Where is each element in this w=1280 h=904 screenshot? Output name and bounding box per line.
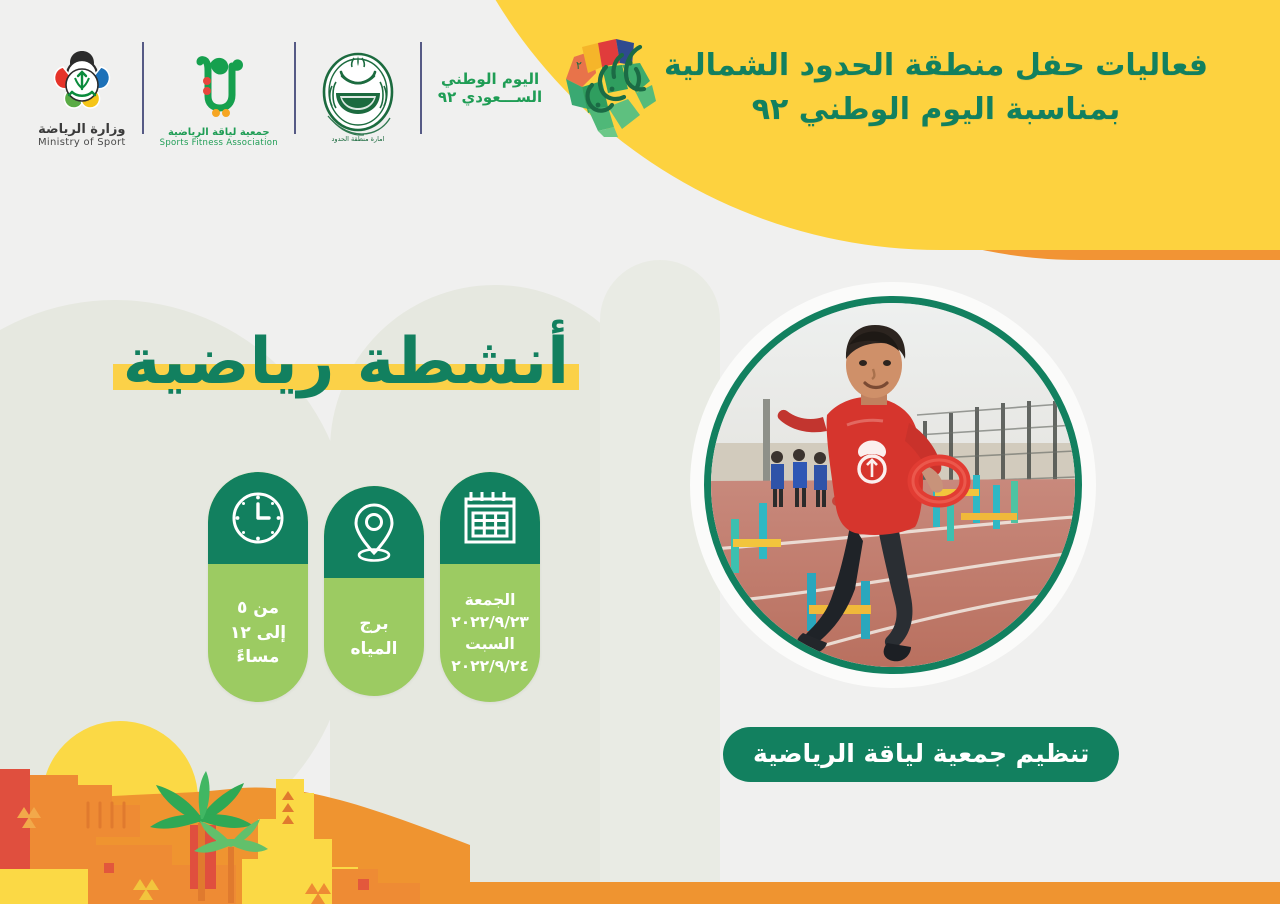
date-value-1: ٢٠٢٢/٩/٢٣: [451, 611, 529, 633]
sports-fitness-association-caption-ar: جمعية لياقة الرياضية: [168, 127, 270, 138]
date-day-1: الجمعة: [465, 589, 516, 611]
pill-body-time: من ٥ إلى ١٢ مساءً: [208, 564, 308, 702]
calendar-icon: [460, 486, 520, 550]
ministry-of-sport-icon: [45, 45, 119, 119]
location-pin-icon: [345, 499, 403, 565]
poster-canvas: وزارة الرياضة Ministry of Sport جمعية لي…: [0, 0, 1280, 904]
info-pills: من ٥ إلى ١٢ مساءً برج المياه: [208, 472, 540, 702]
clock-icon: [227, 487, 289, 549]
info-pill-dates[interactable]: الجمعة ٢٠٢٢/٩/٢٣ السبت ٢٠٢٢/٩/٢٤: [440, 472, 540, 702]
pill-head-time: [208, 472, 308, 564]
logo-sports-fitness-association: جمعية لياقة الرياضية Sports Fitness Asso…: [144, 28, 294, 148]
ministry-of-sport-caption-en: Ministry of Sport: [38, 137, 126, 148]
national-day-caption-ar-line2: الســـعودي ٩٢: [438, 88, 542, 106]
date-value-2: ٢٠٢٢/٩/٢٤: [451, 655, 529, 677]
main-title-wrap: أنشطة رياضية: [117, 330, 575, 394]
northern-borders-emirate-icon: امارة منطقة الحدود: [312, 48, 404, 148]
page-title-text: أنشطة رياضية: [123, 325, 569, 399]
event-photo: [704, 296, 1082, 674]
time-line-1: من ٥: [237, 596, 279, 621]
logo-bar: وزارة الرياضة Ministry of Sport جمعية لي…: [0, 28, 688, 148]
organizer-badge: تنظيم جمعية لياقة الرياضية: [723, 727, 1119, 782]
bg-blob-right: [600, 260, 720, 904]
header-title: فعاليات حفل منطقة الحدود الشمالية بمناسب…: [626, 44, 1246, 131]
location-line-1: برج: [359, 612, 388, 637]
info-pill-time[interactable]: من ٥ إلى ١٢ مساءً: [208, 472, 308, 702]
date-day-2: السبت: [465, 633, 515, 655]
village-illustration: [0, 719, 470, 904]
header-title-line2: بمناسبة اليوم الوطني ٩٢: [626, 88, 1246, 132]
ministry-of-sport-caption-ar: وزارة الرياضة: [38, 122, 125, 137]
logo-ministry-of-sport: وزارة الرياضة Ministry of Sport: [22, 28, 142, 148]
pill-head-location: [324, 486, 424, 578]
pill-head-dates: [440, 472, 540, 564]
event-photo-image: [711, 303, 1075, 667]
sports-fitness-association-icon: [186, 46, 252, 124]
logo-divider-1: [142, 42, 144, 134]
logo-divider-2: [294, 42, 296, 134]
info-pill-location[interactable]: برج المياه: [324, 486, 424, 696]
logo-divider-3: [420, 42, 422, 134]
location-line-2: المياه: [351, 637, 398, 662]
event-photo-ring: [690, 282, 1096, 688]
svg-text:٢: ٢: [576, 59, 582, 72]
national-day-caption-ar-line1: اليوم الوطني: [441, 70, 539, 88]
logo-northern-borders-emirate: امارة منطقة الحدود: [296, 28, 420, 148]
sports-fitness-association-caption-en: Sports Fitness Association: [160, 138, 278, 148]
pill-body-location: برج المياه: [324, 578, 424, 696]
svg-text:امارة منطقة الحدود: امارة منطقة الحدود: [331, 135, 384, 143]
header-title-line1: فعاليات حفل منطقة الحدود الشمالية: [626, 44, 1246, 88]
national-day-caption-block: اليوم الوطني الســـعودي ٩٢: [438, 70, 542, 106]
page-title: أنشطة رياضية: [117, 330, 575, 394]
pill-body-dates: الجمعة ٢٠٢٢/٩/٢٣ السبت ٢٠٢٢/٩/٢٤: [440, 564, 540, 702]
time-line-2: إلى ١٢: [230, 621, 286, 646]
time-line-3: مساءً: [237, 645, 280, 670]
